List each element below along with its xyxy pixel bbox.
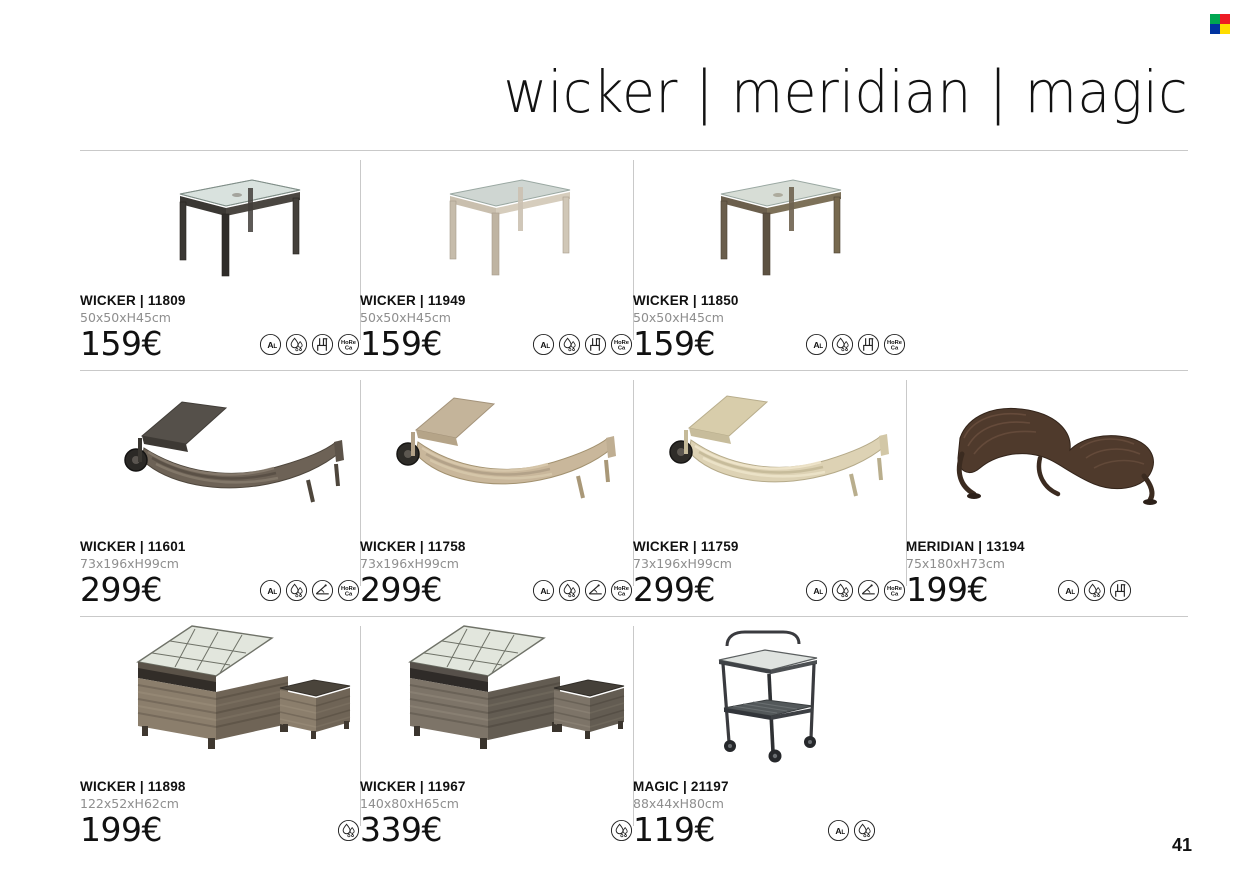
product-image-table-dark — [80, 150, 360, 278]
product-info: WICKER | 11601 73x196xH99cm 299€ AL HoRe… — [80, 539, 360, 608]
product-card[interactable]: WICKER | 11898 122x52xH62cm 199€ — [80, 616, 360, 856]
product-price: 199€ — [906, 572, 988, 608]
product-image-trolley — [633, 616, 906, 764]
stackable-icon — [857, 333, 880, 356]
product-info: WICKER | 11898 122x52xH62cm 199€ — [80, 779, 360, 848]
svg-text:Ca: Ca — [345, 346, 353, 352]
product-image-box-pair — [360, 616, 633, 764]
product-price: 299€ — [80, 572, 162, 608]
water-resistant-icon — [558, 333, 581, 356]
product-row: WICKER | 11601 73x196xH99cm 299€ AL HoRe… — [0, 370, 1250, 616]
horeca-icon: HoReCa — [337, 333, 360, 356]
horeca-icon: HoReCa — [337, 579, 360, 602]
product-info: MERIDIAN | 13194 75x180xH73cm 199€ AL — [906, 539, 1194, 608]
product-card[interactable]: WICKER | 11850 50x50xH45cm 159€ AL HoReC… — [633, 150, 906, 370]
product-card[interactable]: MAGIC | 21197 88x44xH80cm 119€ AL — [633, 616, 906, 856]
product-name: WICKER | 11809 — [80, 293, 360, 308]
stackable-icon — [1109, 579, 1132, 602]
product-grid: WICKER | 11809 50x50xH45cm 159€ AL HoReC… — [0, 150, 1250, 856]
svg-text:Ca: Ca — [345, 592, 353, 598]
aluminium-icon: AL — [805, 333, 828, 356]
water-resistant-icon — [558, 579, 581, 602]
product-icons: AL HoReCa — [532, 579, 633, 608]
product-icons: AL — [1057, 579, 1194, 608]
product-info: MAGIC | 21197 88x44xH80cm 119€ AL — [633, 779, 906, 848]
stackable-icon — [311, 333, 334, 356]
logo-square-blue — [1210, 24, 1220, 34]
product-info: WICKER | 11758 73x196xH99cm 299€ AL HoRe… — [360, 539, 633, 608]
product-card[interactable]: WICKER | 11967 140x80xH65cm 339€ — [360, 616, 633, 856]
product-name: WICKER | 11949 — [360, 293, 633, 308]
product-card[interactable]: MERIDIAN | 13194 75x180xH73cm 199€ AL — [906, 370, 1194, 616]
water-resistant-icon — [610, 819, 633, 842]
product-icons: AL HoReCa — [805, 333, 906, 362]
water-resistant-icon — [285, 579, 308, 602]
svg-text:L: L — [273, 589, 277, 596]
product-icons: AL HoReCa — [805, 579, 906, 608]
aluminium-icon: AL — [259, 333, 282, 356]
product-icons: AL HoReCa — [259, 579, 360, 608]
logo-square-green — [1210, 14, 1220, 24]
svg-text:Ca: Ca — [891, 592, 899, 598]
horeca-icon: HoReCa — [610, 333, 633, 356]
svg-text:L: L — [819, 589, 823, 596]
product-price: 339€ — [360, 812, 442, 848]
product-image-lounger-beige — [360, 370, 633, 524]
logo-square-red — [1220, 14, 1230, 24]
catalog-page: wicker | meridian | magic — [0, 0, 1250, 884]
water-resistant-icon — [853, 819, 876, 842]
product-price: 159€ — [360, 326, 442, 362]
adjustable-icon — [584, 579, 607, 602]
product-name: WICKER | 11850 — [633, 293, 906, 308]
product-card[interactable]: WICKER | 11949 50x50xH45cm 159€ AL HoReC… — [360, 150, 633, 370]
horeca-icon: HoReCa — [610, 579, 633, 602]
water-resistant-icon — [1083, 579, 1106, 602]
aluminium-icon: AL — [532, 579, 555, 602]
product-dimensions: 50x50xH45cm — [80, 310, 360, 325]
svg-text:L: L — [546, 343, 550, 350]
product-card[interactable]: WICKER | 11601 73x196xH99cm 299€ AL HoRe… — [80, 370, 360, 616]
product-card[interactable]: WICKER | 11758 73x196xH99cm 299€ AL HoRe… — [360, 370, 633, 616]
page-title: wicker | meridian | magic — [503, 58, 1188, 126]
product-image-lounger-sand — [633, 370, 906, 524]
brand-logo-icon — [1210, 14, 1230, 34]
water-resistant-icon — [831, 333, 854, 356]
product-name: WICKER | 11601 — [80, 539, 360, 554]
product-info: WICKER | 11850 50x50xH45cm 159€ AL HoReC… — [633, 293, 906, 362]
svg-text:Ca: Ca — [618, 592, 626, 598]
horeca-icon: HoReCa — [883, 579, 906, 602]
stackable-icon — [584, 333, 607, 356]
svg-text:Ca: Ca — [618, 346, 626, 352]
product-dimensions: 50x50xH45cm — [633, 310, 906, 325]
svg-text:L: L — [1071, 589, 1075, 596]
page-number: 41 — [1172, 835, 1192, 856]
product-image-table-light — [360, 150, 633, 278]
aluminium-icon: AL — [532, 333, 555, 356]
product-image-table-brown — [633, 150, 906, 278]
product-price: 159€ — [80, 326, 162, 362]
water-resistant-icon — [285, 333, 308, 356]
product-dimensions: 73x196xH99cm — [633, 556, 906, 571]
product-info: WICKER | 11949 50x50xH45cm 159€ AL HoReC… — [360, 293, 633, 362]
product-image-lounger-brown-sling — [906, 370, 1194, 524]
product-icons — [610, 819, 633, 848]
product-card[interactable]: WICKER | 11759 73x196xH99cm 299€ AL HoRe… — [633, 370, 906, 616]
product-image-box-pair — [80, 616, 360, 764]
product-name: MERIDIAN | 13194 — [906, 539, 1194, 554]
product-icons: AL HoReCa — [259, 333, 360, 362]
product-icons — [337, 819, 360, 848]
product-dimensions: 88x44xH80cm — [633, 796, 906, 811]
product-info: WICKER | 11759 73x196xH99cm 299€ AL HoRe… — [633, 539, 906, 608]
svg-text:L: L — [819, 343, 823, 350]
aluminium-icon: AL — [827, 819, 850, 842]
product-name: WICKER | 11898 — [80, 779, 360, 794]
product-price: 299€ — [633, 572, 715, 608]
aluminium-icon: AL — [805, 579, 828, 602]
product-row: WICKER | 11898 122x52xH62cm 199€ — [0, 616, 1250, 856]
svg-text:Ca: Ca — [891, 346, 899, 352]
product-price: 119€ — [633, 812, 715, 848]
aluminium-icon: AL — [1057, 579, 1080, 602]
water-resistant-icon — [337, 819, 360, 842]
product-name: WICKER | 11967 — [360, 779, 633, 794]
product-icons: AL — [827, 819, 906, 848]
svg-text:L: L — [841, 829, 845, 836]
product-image-lounger-dark — [80, 370, 360, 524]
aluminium-icon: AL — [259, 579, 282, 602]
product-name: MAGIC | 21197 — [633, 779, 906, 794]
svg-text:L: L — [273, 343, 277, 350]
product-name: WICKER | 11759 — [633, 539, 906, 554]
product-price: 159€ — [633, 326, 715, 362]
svg-text:L: L — [546, 589, 550, 596]
logo-square-yellow — [1220, 24, 1230, 34]
product-row: WICKER | 11809 50x50xH45cm 159€ AL HoReC… — [0, 150, 1250, 370]
product-info: WICKER | 11967 140x80xH65cm 339€ — [360, 779, 633, 848]
product-dimensions: 140x80xH65cm — [360, 796, 633, 811]
product-dimensions: 75x180xH73cm — [906, 556, 1194, 571]
product-icons: AL HoReCa — [532, 333, 633, 362]
product-dimensions: 73x196xH99cm — [80, 556, 360, 571]
adjustable-icon — [857, 579, 880, 602]
product-card[interactable]: WICKER | 11809 50x50xH45cm 159€ AL HoReC… — [80, 150, 360, 370]
product-price: 299€ — [360, 572, 442, 608]
product-dimensions: 122x52xH62cm — [80, 796, 360, 811]
product-info: WICKER | 11809 50x50xH45cm 159€ AL HoReC… — [80, 293, 360, 362]
product-name: WICKER | 11758 — [360, 539, 633, 554]
adjustable-icon — [311, 579, 334, 602]
horeca-icon: HoReCa — [883, 333, 906, 356]
product-dimensions: 50x50xH45cm — [360, 310, 633, 325]
product-dimensions: 73x196xH99cm — [360, 556, 633, 571]
product-price: 199€ — [80, 812, 162, 848]
water-resistant-icon — [831, 579, 854, 602]
